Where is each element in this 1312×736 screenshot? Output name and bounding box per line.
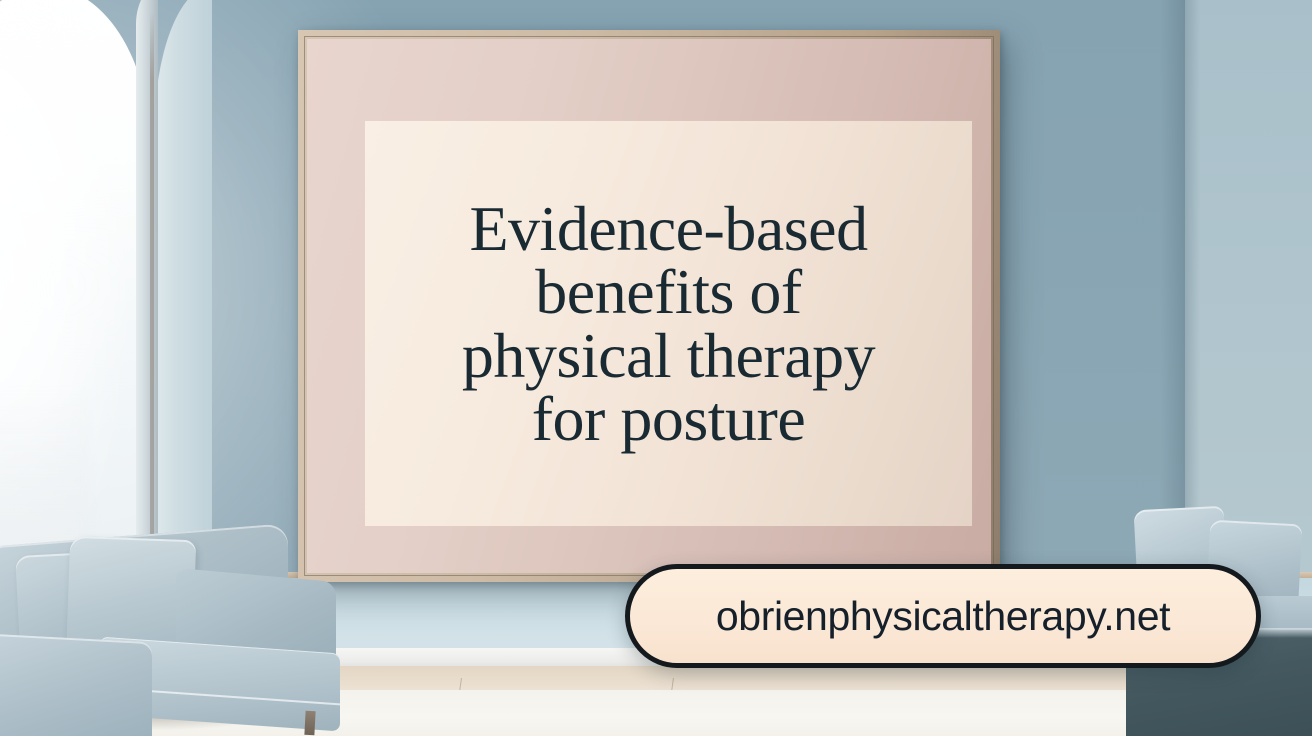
sofa-leg bbox=[304, 711, 315, 735]
poster-title-line-4: for posture bbox=[462, 387, 875, 450]
poster-title-line-3: physical therapy bbox=[462, 324, 875, 387]
url-badge[interactable]: obrienphysicaltherapy.net bbox=[625, 564, 1261, 668]
url-badge-label: obrienphysicaltherapy.net bbox=[716, 593, 1170, 640]
picture-frame: Evidence-based benefits of physical ther… bbox=[298, 30, 1000, 582]
left-sofa bbox=[0, 505, 380, 736]
room-scene: Evidence-based benefits of physical ther… bbox=[0, 0, 1312, 736]
frame-mat: Evidence-based benefits of physical ther… bbox=[307, 39, 991, 573]
poster-title-line-2: benefits of bbox=[462, 260, 875, 323]
poster-title: Evidence-based benefits of physical ther… bbox=[454, 197, 883, 450]
poster-artwork: Evidence-based benefits of physical ther… bbox=[365, 121, 972, 526]
sofa-arm-left bbox=[0, 632, 152, 736]
poster-title-line-1: Evidence-based bbox=[462, 197, 875, 260]
